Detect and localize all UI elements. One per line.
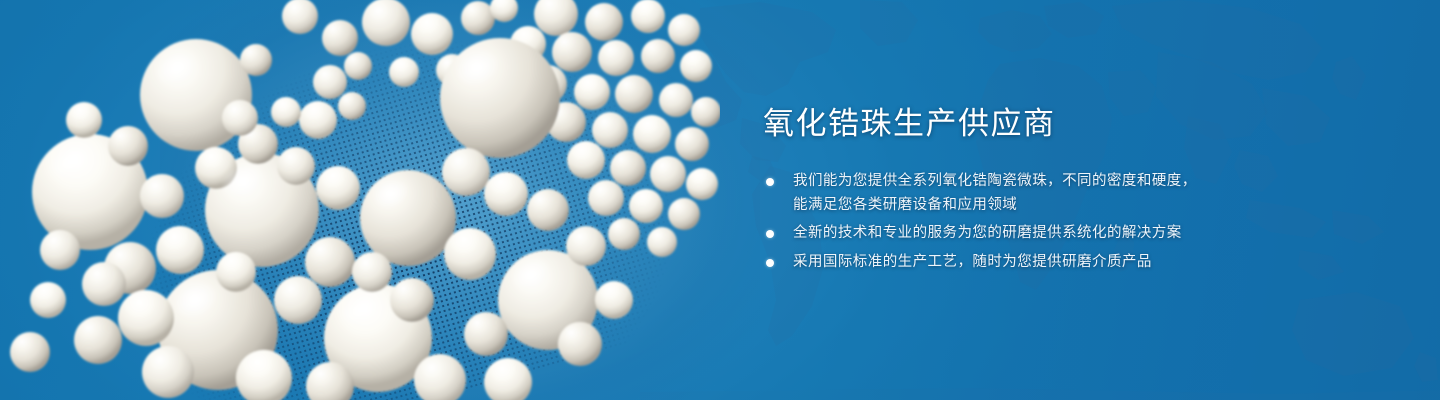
bead-backlight-glow xyxy=(160,0,760,400)
hero-banner: 氧化锆珠生产供应商 我们能为您提供全系列氧化锆陶瓷微珠，不同的密度和硬度， 能满… xyxy=(0,0,1440,400)
halftone-texture xyxy=(52,0,758,400)
list-item: 采用国际标准的生产工艺，随时为您提供研磨介质产品 xyxy=(763,251,1263,275)
list-item-line: 全新的技术和专业的服务为您的研磨提供系统化的解决方案 xyxy=(793,222,1263,246)
zirconia-bead-cluster-image xyxy=(0,0,720,400)
bullet-dot-icon xyxy=(766,178,774,186)
banner-copy: 氧化锆珠生产供应商 我们能为您提供全系列氧化锆陶瓷微珠，不同的密度和硬度， 能满… xyxy=(763,104,1263,274)
feature-list: 我们能为您提供全系列氧化锆陶瓷微珠，不同的密度和硬度， 能满足您各类研磨设备和应… xyxy=(763,170,1263,274)
bullet-dot-icon xyxy=(766,259,774,267)
list-item: 全新的技术和专业的服务为您的研磨提供系统化的解决方案 xyxy=(763,222,1263,246)
bullet-dot-icon xyxy=(766,230,774,238)
list-item-line: 我们能为您提供全系列氧化锆陶瓷微珠，不同的密度和硬度， xyxy=(793,170,1263,194)
list-item-line: 采用国际标准的生产工艺，随时为您提供研磨介质产品 xyxy=(793,251,1263,275)
list-item-line: 能满足您各类研磨设备和应用领域 xyxy=(793,194,1263,218)
page-title: 氧化锆珠生产供应商 xyxy=(763,104,1263,144)
list-item: 我们能为您提供全系列氧化锆陶瓷微珠，不同的密度和硬度， 能满足您各类研磨设备和应… xyxy=(763,170,1263,217)
